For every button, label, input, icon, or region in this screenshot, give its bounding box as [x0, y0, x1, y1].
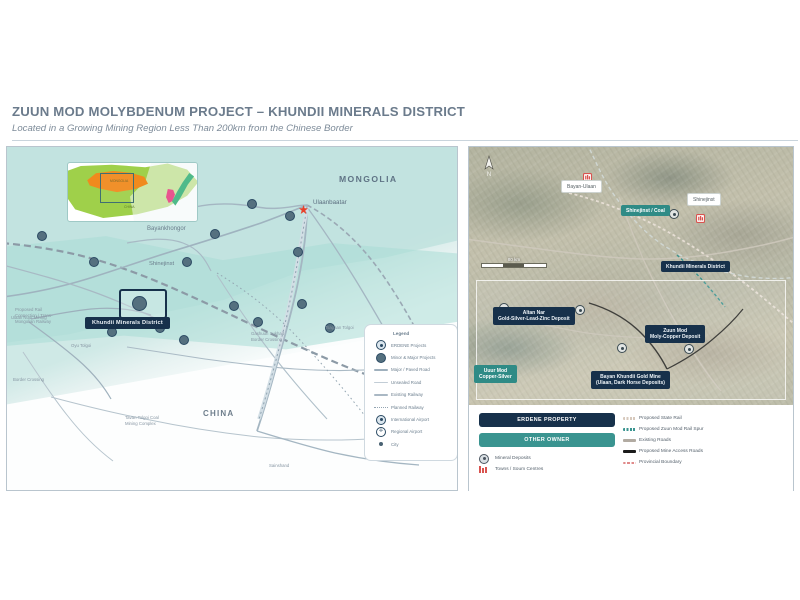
erdene-project-icon: [371, 340, 391, 350]
page-subtitle: Located in a Growing Mining Region Less …: [12, 123, 612, 134]
legend-label: Proposed Mine Access Roads: [639, 449, 703, 454]
legend-row: Unsealed Road: [371, 376, 451, 388]
legend-row: Existing Roads: [623, 435, 783, 446]
project-marker-ub-west[interactable]: [247, 199, 257, 209]
uuur-mod-label: Uuur Mod Copper-Silver: [474, 365, 517, 383]
legend-ownership-column: ERDENE PROPERTY OTHER OWNER Mineral Depo…: [479, 413, 615, 475]
zuun-mod-label: Zuun Mod Moly-Copper Deposit: [645, 325, 705, 343]
unsealed-road-icon: [371, 382, 391, 384]
erdene-property-pill: ERDENE PROPERTY: [479, 413, 615, 427]
provincial-boundary-icon: [623, 462, 639, 464]
legend-label: Existing Roads: [639, 438, 671, 443]
uuur-mod-line2: Copper-Silver: [479, 374, 512, 380]
shinejinst-coal-label: Shinejinst / Coal: [621, 205, 670, 216]
existing-railway-icon: [371, 394, 391, 396]
title-divider: [12, 140, 798, 141]
inset-china-label: CHINA: [124, 205, 135, 209]
legend-label: Proposed State Rail: [639, 416, 682, 421]
legend-row: Planned Railway: [371, 401, 451, 413]
proposed-mine-access-roads-icon: [623, 450, 639, 453]
legend-label: Planned Railway: [391, 405, 424, 410]
legend-row: International Airport: [371, 413, 451, 425]
proposed-zuun-mod-rail-spur-icon: [623, 428, 639, 430]
project-marker-central[interactable]: [293, 247, 303, 257]
legend-label: Regional Airport: [391, 429, 422, 434]
uuur-mod-line1: Uuur Mod: [484, 368, 507, 374]
altan-nar-line1: Altan Nar: [523, 310, 545, 316]
legend-row: Proposed State Rail: [623, 413, 783, 424]
other-project-icon: [371, 353, 391, 363]
international-airport-icon: [371, 415, 391, 425]
khundii-district-marker[interactable]: [132, 296, 147, 311]
legend-row: Major / Paved Road: [371, 364, 451, 376]
page-title: ZUUN MOD MOLYBDENUM PROJECT – KHUNDII MI…: [12, 104, 612, 119]
other-owner-pill: OTHER OWNER: [479, 433, 615, 447]
altan-nar-label: Altan Nar Gold-Silver-Lead-Zinc Deposit: [493, 307, 575, 325]
legend-label: City: [391, 442, 399, 447]
legend-label: Mineral Deposits: [495, 456, 531, 461]
legend-row: Existing Railway: [371, 389, 451, 401]
legend-row: Proposed Zuun Mod Rail Spur: [623, 424, 783, 435]
bayan-ulaan-label: Bayan-Ulaan: [561, 180, 602, 193]
town-marker-shinejinst[interactable]: [696, 210, 705, 219]
legend-row: Provincial Boundary: [623, 457, 783, 468]
mineral-deposit-icon: [479, 454, 495, 464]
inset-mongolia-label: MONGOLIA: [110, 179, 128, 183]
zuun-mod-line1: Zuun Mod: [663, 328, 687, 334]
project-marker-south-central[interactable]: [297, 299, 307, 309]
legend-lines-column: Proposed State Rail Proposed Zuun Mod Ra…: [623, 413, 783, 475]
scale-bar-label: 80 km: [481, 257, 547, 262]
legend-label: Unsealed Road: [391, 380, 421, 385]
khundii-minerals-district-label: Khundii Minerals District: [661, 261, 730, 272]
project-marker-east[interactable]: [325, 323, 335, 333]
legend-row: City: [371, 438, 451, 450]
legend-label: International Airport: [391, 417, 429, 422]
scale-bar: 80 km: [481, 257, 547, 268]
legend-row: Towns / Soum Centres: [479, 464, 615, 475]
town-marker-bayan-ulaan[interactable]: [583, 169, 592, 178]
legend-row: Proposed Mine Access Roads: [623, 446, 783, 457]
district-map-panel[interactable]: N 80 km Bayan-Ulaan Shinejinst: [468, 146, 794, 491]
deposit-marker-bayan-khundii[interactable]: [617, 343, 627, 353]
khundii-minerals-district-label: Khundii Minerals District: [85, 317, 170, 329]
regional-map[interactable]: MONGOLIA CHINA MONGOLIA CHINA Ulaanbaata…: [7, 147, 457, 490]
shinejinst-label: Shinejinst: [687, 193, 721, 206]
altan-nar-line2: Gold-Silver-Lead-Zinc Deposit: [498, 316, 570, 322]
proposed-state-rail-icon: [623, 417, 639, 419]
legend-row: Mineral Deposits: [479, 453, 615, 464]
legend-label: Proposed Zuun Mod Rail Spur: [639, 427, 704, 432]
regional-map-legend: Legend ERDENE Projects Minor & Major Pro…: [364, 324, 457, 461]
major-road-icon: [371, 369, 391, 372]
legend-row: Minor & Major Projects: [371, 351, 451, 363]
district-map-legend: ERDENE PROPERTY OTHER OWNER Mineral Depo…: [469, 405, 793, 491]
bayan-khundii-line2: (Ulaan, Dark Horse Deposits): [596, 380, 665, 386]
country-inset-map: MONGOLIA CHINA: [67, 162, 198, 222]
project-marker-bayankhongor[interactable]: [210, 229, 220, 239]
project-marker-oyu-tolgoi[interactable]: [229, 301, 239, 311]
legend-title: Legend: [393, 331, 451, 336]
inset-focus-box: [100, 173, 134, 203]
project-marker-south[interactable]: [179, 335, 189, 345]
legend-label: Minor & Major Projects: [391, 355, 435, 360]
legend-row: ✛ Regional Airport: [371, 426, 451, 438]
legend-label: Provincial Boundary: [639, 460, 682, 465]
project-marker-far-west[interactable]: [37, 231, 47, 241]
project-marker-ub-south[interactable]: [285, 211, 295, 221]
legend-row: ERDENE Projects: [371, 339, 451, 351]
planned-railway-icon: [371, 407, 391, 408]
deposit-marker-shinejinst-coal[interactable]: [669, 209, 679, 219]
legend-label: Existing Railway: [391, 392, 423, 397]
project-marker-west[interactable]: [89, 257, 99, 267]
legend-label: Major / Paved Road: [391, 367, 430, 372]
district-satellite-map[interactable]: N 80 km Bayan-Ulaan Shinejinst: [469, 147, 793, 405]
deposit-marker-zuun-mod[interactable]: [684, 344, 694, 354]
deposit-marker-altan-nar[interactable]: [575, 305, 585, 315]
scale-bar-graphic: [481, 263, 547, 268]
title-block: ZUUN MOD MOLYBDENUM PROJECT – KHUNDII MI…: [12, 104, 612, 134]
zuun-mod-line2: Moly-Copper Deposit: [650, 334, 700, 340]
city-icon: [371, 442, 391, 446]
regional-map-panel[interactable]: MONGOLIA CHINA MONGOLIA CHINA Ulaanbaata…: [6, 146, 458, 491]
slide-root: ZUUN MOD MOLYBDENUM PROJECT – KHUNDII MI…: [0, 0, 800, 600]
project-marker-tavan-tolgoi[interactable]: [253, 317, 263, 327]
town-soum-icon: [479, 466, 495, 473]
north-arrow-icon: N: [483, 155, 495, 177]
existing-roads-icon: [623, 439, 639, 442]
project-marker-shinejinst[interactable]: [182, 257, 192, 267]
legend-label: ERDENE Projects: [391, 343, 426, 348]
bayan-khundii-line1: Bayan Khundii Gold Mine: [600, 374, 661, 380]
ulaanbaatar-star-icon: [299, 201, 308, 210]
regional-airport-icon: ✛: [371, 427, 391, 437]
svg-text:N: N: [487, 172, 491, 177]
legend-label: Towns / Soum Centres: [495, 467, 543, 472]
bayan-khundii-label: Bayan Khundii Gold Mine (Ulaan, Dark Hor…: [591, 371, 670, 389]
